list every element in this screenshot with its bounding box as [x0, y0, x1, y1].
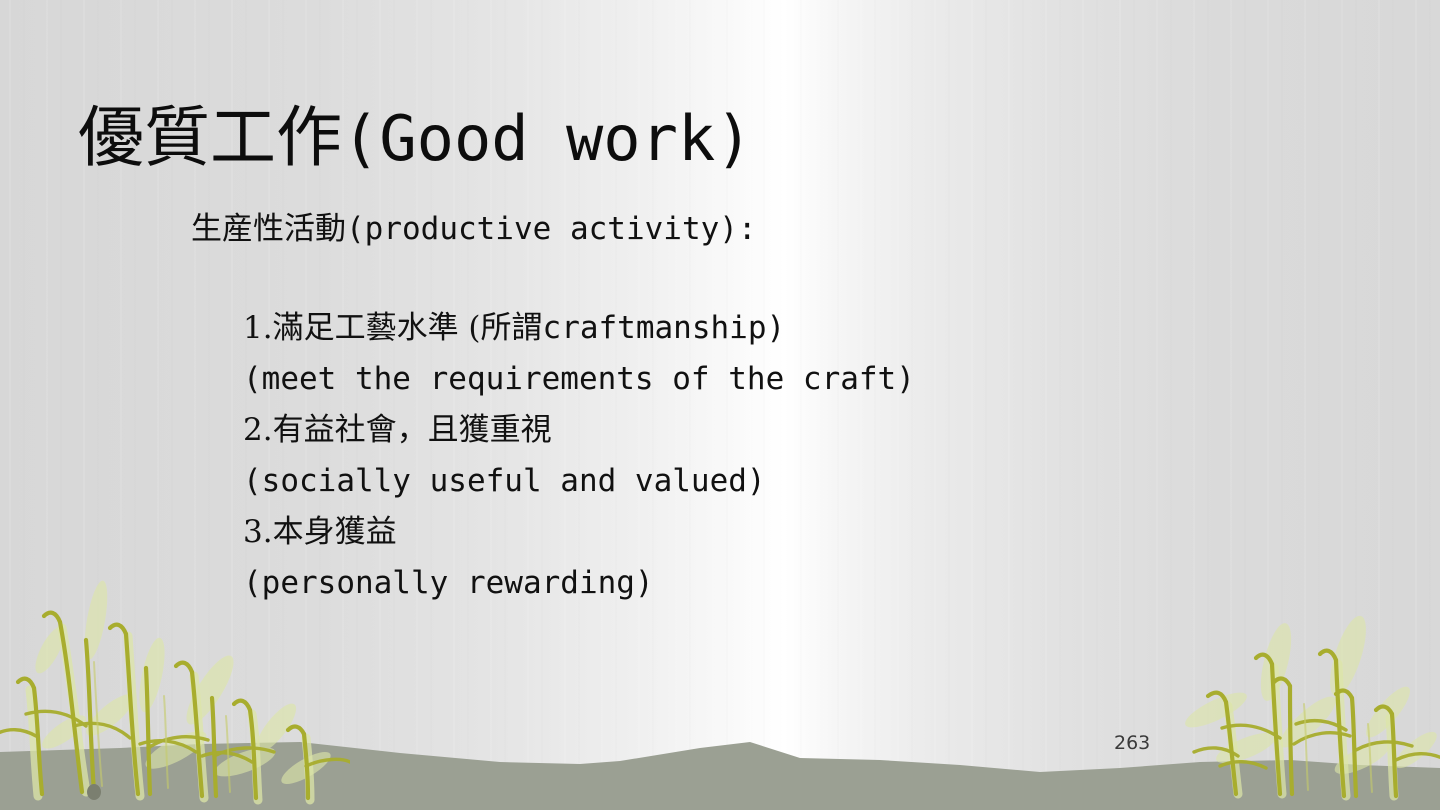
list-item-cjk: 3.本身獲益	[243, 514, 397, 550]
list-item: (socially useful and valued)	[243, 456, 1243, 507]
grass-decoration-right	[1150, 580, 1440, 810]
list-item-latin: (personally rewarding)	[243, 565, 654, 601]
slide-title-cjk: 優質工作	[78, 99, 342, 176]
ground-silhouette	[0, 720, 1440, 810]
slide-title-latin: (Good work)	[342, 102, 753, 175]
list-item-latin: (meet the requirements of the craft)	[243, 361, 915, 397]
list-item: 3.本身獲益	[243, 507, 1243, 558]
list-item: 1.滿足工藝水準 (所謂craftmanship)	[243, 303, 1243, 354]
list-item: (personally rewarding)	[243, 558, 1243, 609]
page-number: 263	[1114, 732, 1150, 754]
slide-subtitle: 生産性活動(productive activity):	[191, 203, 757, 248]
presentation-slide: 優質工作(Good work) 生産性活動(productive activit…	[0, 0, 1440, 810]
pebble-icon	[87, 784, 101, 800]
list-item: 2.有益社會，且獲重視	[243, 405, 1243, 456]
slide-subtitle-latin: (productive activity):	[346, 211, 757, 247]
list-item-cjk: 1.滿足工藝水準 (所謂	[243, 310, 543, 346]
list-item-latin: (socially useful and valued)	[243, 463, 766, 499]
list-item: (meet the requirements of the craft)	[243, 354, 1243, 405]
list-item-cjk: 2.有益社會，且獲重視	[243, 412, 552, 448]
slide-body-list: 1.滿足工藝水準 (所謂craftmanship) (meet the requ…	[243, 303, 1243, 609]
list-item-latin: craftmanship)	[543, 310, 786, 346]
slide-title: 優質工作(Good work)	[78, 99, 753, 177]
slide-subtitle-cjk: 生産性活動	[191, 211, 346, 247]
